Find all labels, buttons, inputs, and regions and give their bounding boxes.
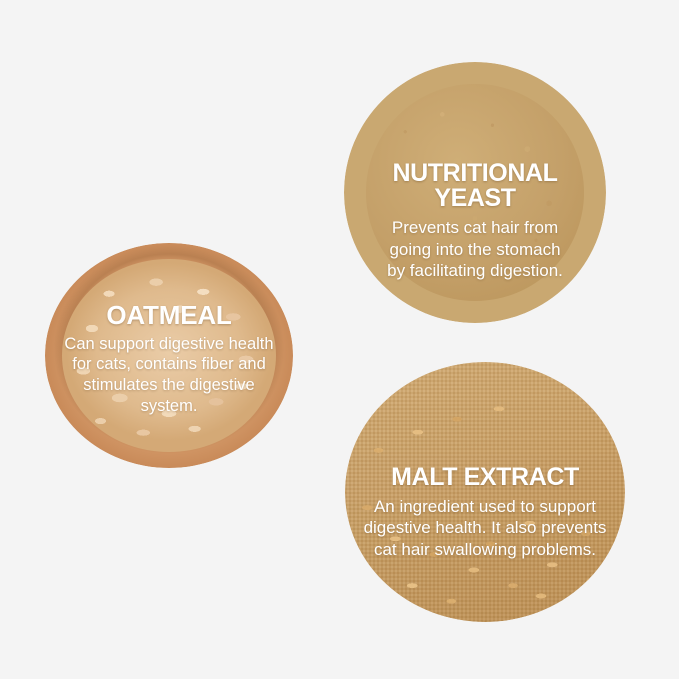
ingredient-card-malt-extract: MALT EXTRACT An ingredient used to suppo… xyxy=(345,362,625,622)
oatmeal-title: OATMEAL xyxy=(51,302,287,329)
oatmeal-copy-block: OATMEAL Can support digestive health for… xyxy=(45,302,293,417)
ingredient-card-oatmeal: OATMEAL Can support digestive health for… xyxy=(45,243,293,468)
yeast-description-line: going into the stomach xyxy=(350,239,600,261)
oatmeal-description-line: Can support digestive health xyxy=(51,334,287,355)
infographic-canvas: OATMEAL Can support digestive health for… xyxy=(0,0,679,679)
yeast-description: Prevents cat hair from going into the st… xyxy=(350,217,600,282)
oatmeal-description-line: system. xyxy=(51,396,287,417)
yeast-title: NUTRITIONAL YEAST xyxy=(350,161,600,212)
malt-description-line: cat hair swallowing problems. xyxy=(351,539,619,561)
yeast-description-line: by facilitating digestion. xyxy=(350,260,600,282)
oatmeal-description: Can support digestive health for cats, c… xyxy=(51,334,287,417)
oatmeal-description-line: for cats, contains fiber and xyxy=(51,354,287,375)
malt-description-line: digestive health. It also prevents xyxy=(351,517,619,539)
oatmeal-description-line: stimulates the digestive xyxy=(51,375,287,396)
malt-description: An ingredient used to support digestive … xyxy=(351,496,619,561)
malt-title: MALT EXTRACT xyxy=(351,465,619,491)
yeast-description-line: Prevents cat hair from xyxy=(350,217,600,239)
yeast-copy-block: NUTRITIONAL YEAST Prevents cat hair from… xyxy=(344,161,606,282)
malt-description-line: An ingredient used to support xyxy=(351,496,619,518)
malt-copy-block: MALT EXTRACT An ingredient used to suppo… xyxy=(345,465,625,561)
ingredient-card-nutritional-yeast: NUTRITIONAL YEAST Prevents cat hair from… xyxy=(344,62,606,323)
